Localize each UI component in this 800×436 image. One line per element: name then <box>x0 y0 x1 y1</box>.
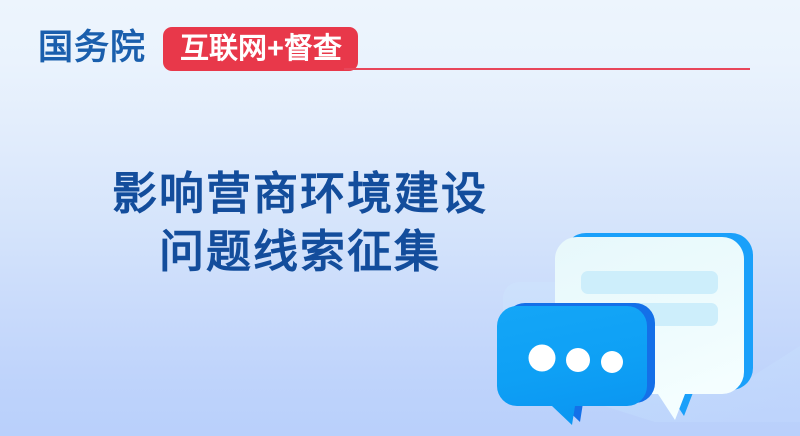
badge-label: 互联网+督查 <box>180 34 342 64</box>
headline-line-1: 影响营商环境建设 <box>0 165 600 223</box>
header: 国务院 互联网+督查 <box>0 0 800 100</box>
dot-1 <box>529 345 556 372</box>
banner: 国务院 互联网+督查 影响营商环境建设 问题线索征集 <box>0 0 800 436</box>
header-divider <box>344 68 750 70</box>
chat-bubbles-illustration <box>495 222 800 436</box>
dot-2 <box>566 348 590 372</box>
status-badge: 互联网+督查 <box>163 27 358 71</box>
reply-line-1 <box>581 271 718 294</box>
dot-3 <box>601 351 623 373</box>
page-title: 国务院 <box>38 28 146 68</box>
